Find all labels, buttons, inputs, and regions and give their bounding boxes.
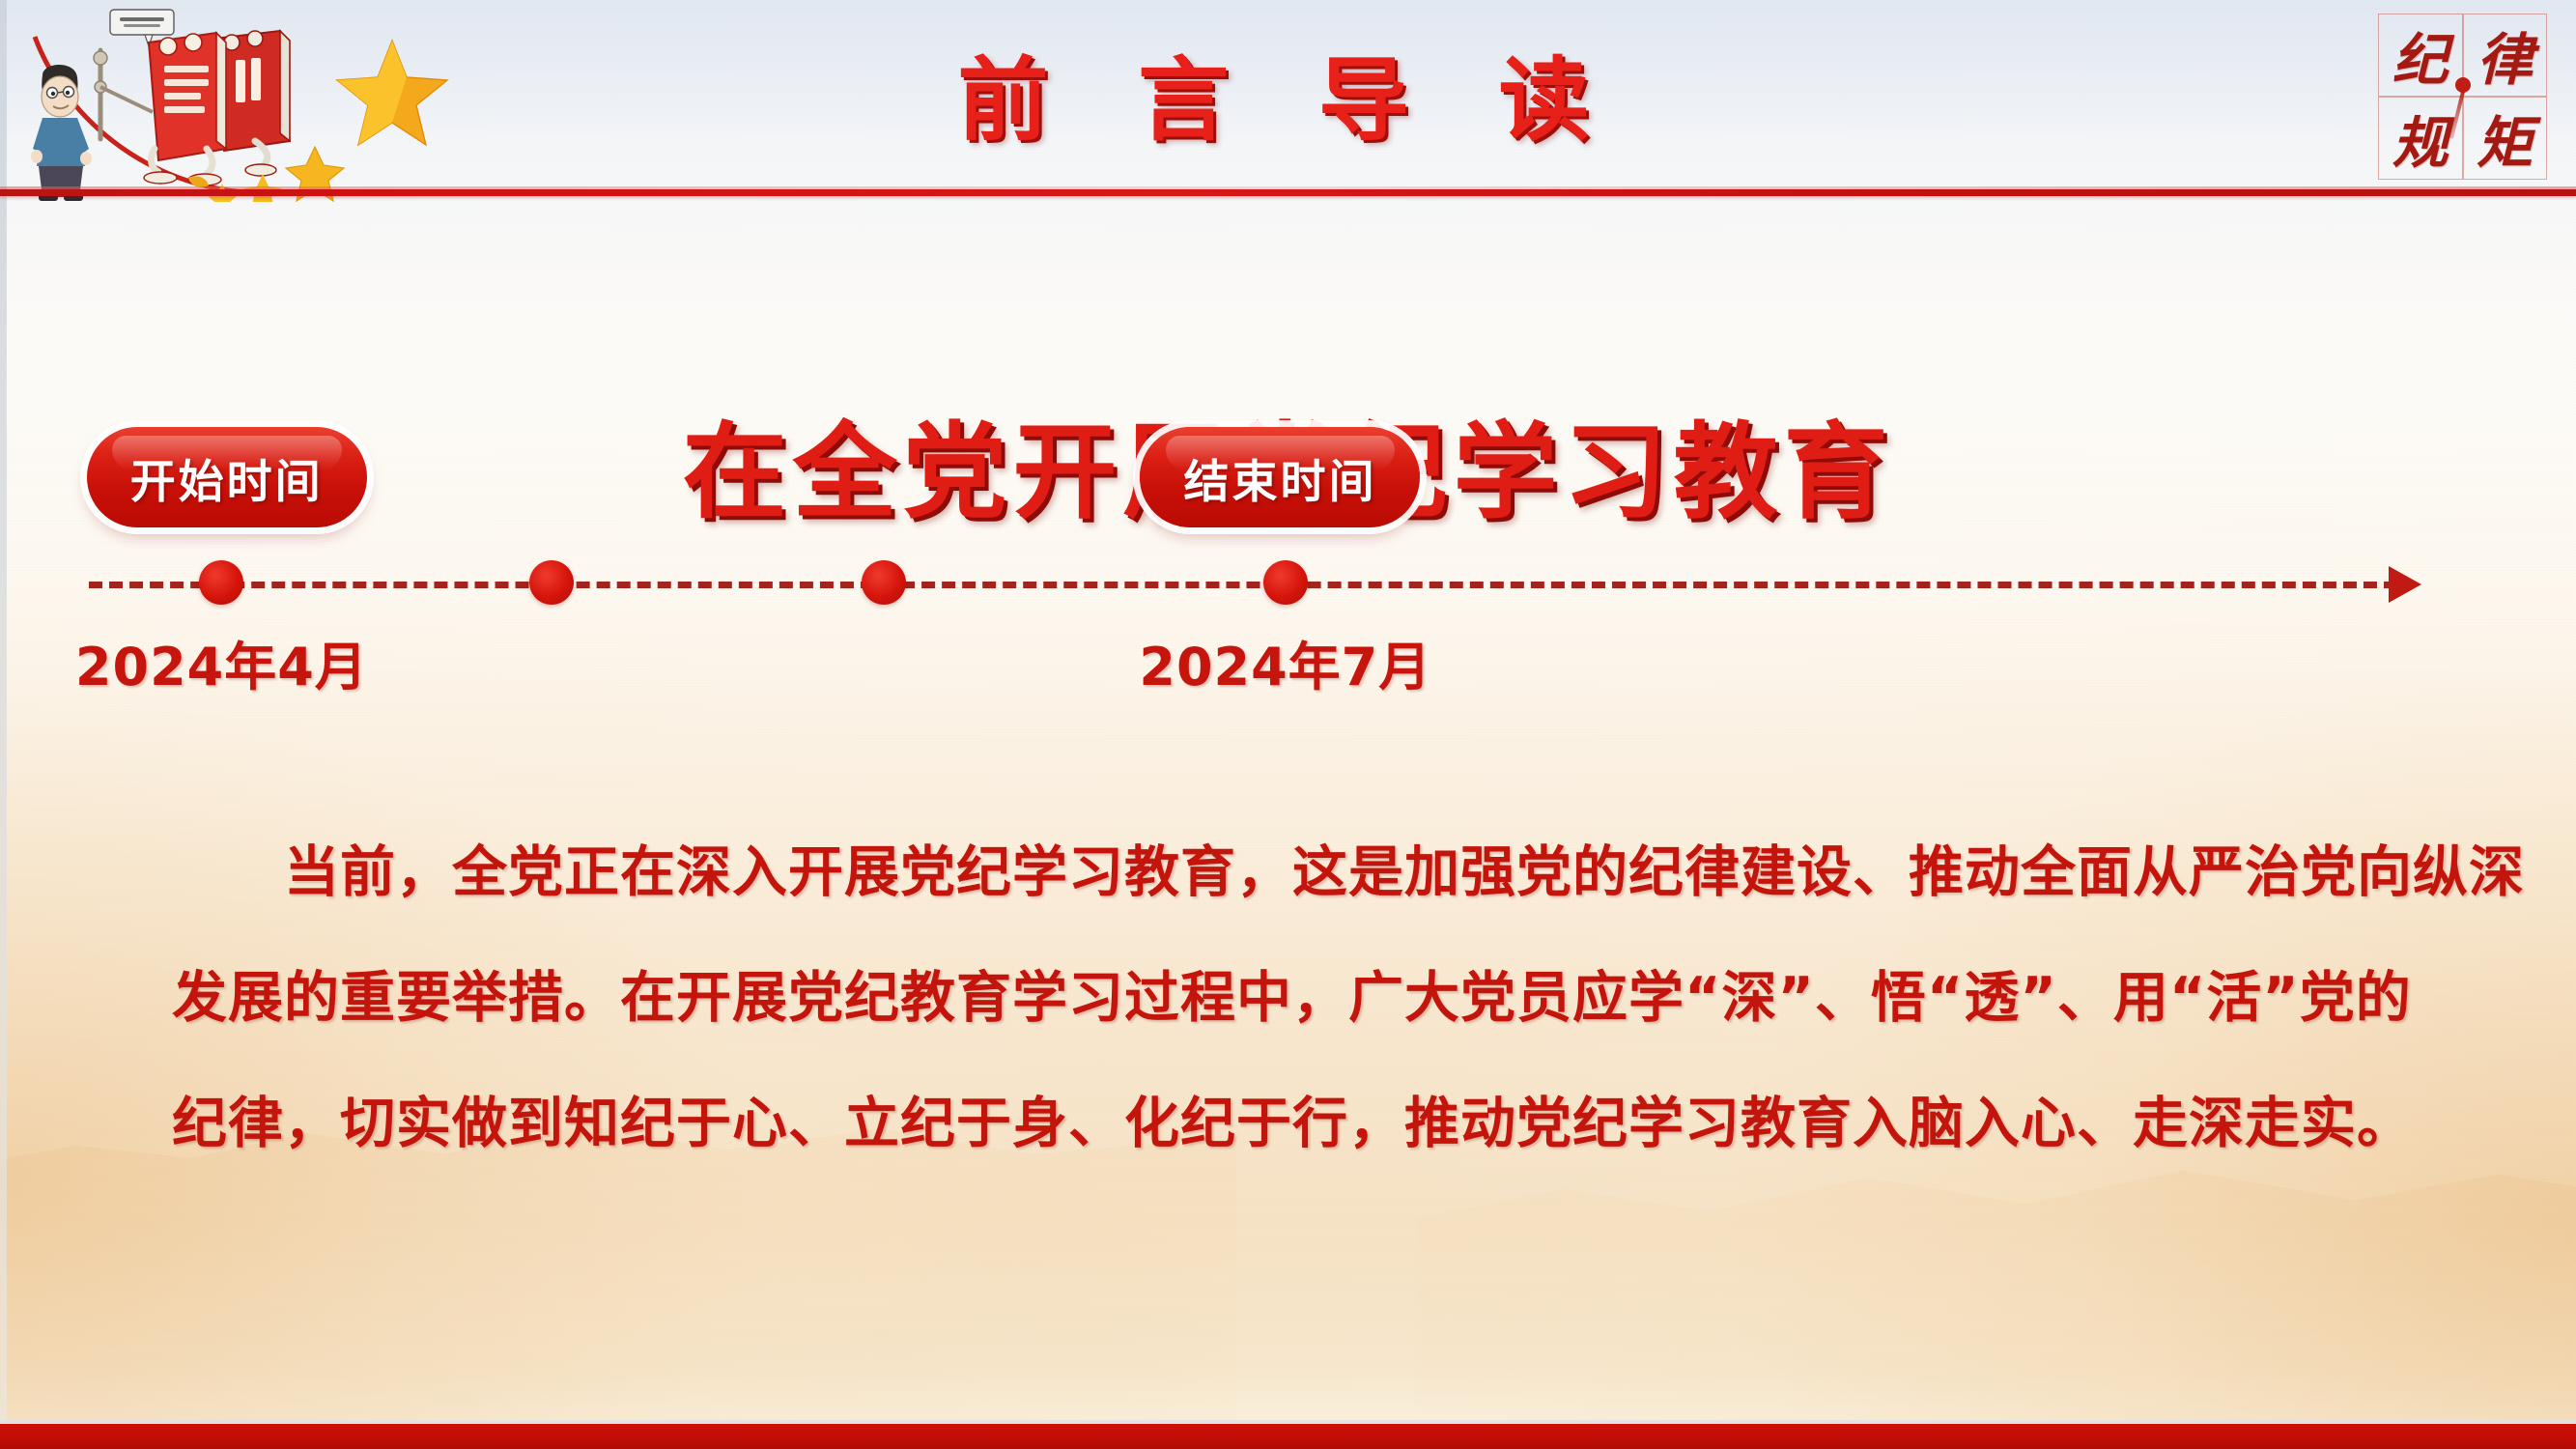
- calligraphy-seal: 纪 律 规 矩: [2378, 14, 2547, 173]
- seal-char-1: 纪: [2378, 14, 2463, 97]
- timeline-dashed-line: [89, 582, 2397, 588]
- body-paragraph: 当前，全党正在深入开展党纪学习教育，这是加强党的纪律建设、推动全面从严治党向纵深…: [172, 810, 2412, 1186]
- slide-left-edge: [0, 0, 7, 1449]
- end-time-pill[interactable]: 结束时间: [1140, 427, 1420, 527]
- seal-char-2: 律: [2463, 14, 2548, 97]
- start-date-label: 2024年4月: [18, 624, 424, 700]
- body-line-3: 纪律，切实做到知纪于心、立纪于身、化纪于行，推动党纪学习教育入脑入心、走深走实。: [172, 1061, 2412, 1186]
- timeline-dot-start: [199, 560, 243, 605]
- bottom-accent-bar: [0, 1424, 2576, 1449]
- timeline-dot-2: [529, 560, 574, 605]
- brush-dot-icon: [2455, 77, 2471, 93]
- seal-char-4: 矩: [2463, 97, 2548, 180]
- timeline-dot-end: [1263, 560, 1308, 605]
- timeline: 开始时间 结束时间 2024年4月 2024年7月: [0, 560, 2576, 618]
- body-line-1: 当前，全党正在深入开展党纪学习教育，这是加强党的纪律建设、推动全面从严治党向纵深: [172, 810, 2412, 935]
- timeline-dot-3: [862, 560, 906, 605]
- slide-header: 前 言 导 读 纪 律 规 矩: [0, 0, 2576, 198]
- slide-root: 前 言 导 读 纪 律 规 矩 在全党开展党纪学习教育 开始时间 结束时间 20…: [0, 0, 2576, 1449]
- header-divider: [0, 189, 2576, 196]
- background-paper-texture: [0, 0, 2576, 1449]
- end-date-label: 2024年7月: [1083, 624, 1488, 700]
- body-line-2: 发展的重要举措。在开展党纪教育学习过程中，广大党员应学“深”、悟“透”、用“活”…: [172, 935, 2412, 1061]
- timeline-arrow-icon: [2389, 566, 2421, 603]
- start-time-pill[interactable]: 开始时间: [87, 427, 367, 527]
- page-title: 前 言 导 读: [0, 27, 2576, 158]
